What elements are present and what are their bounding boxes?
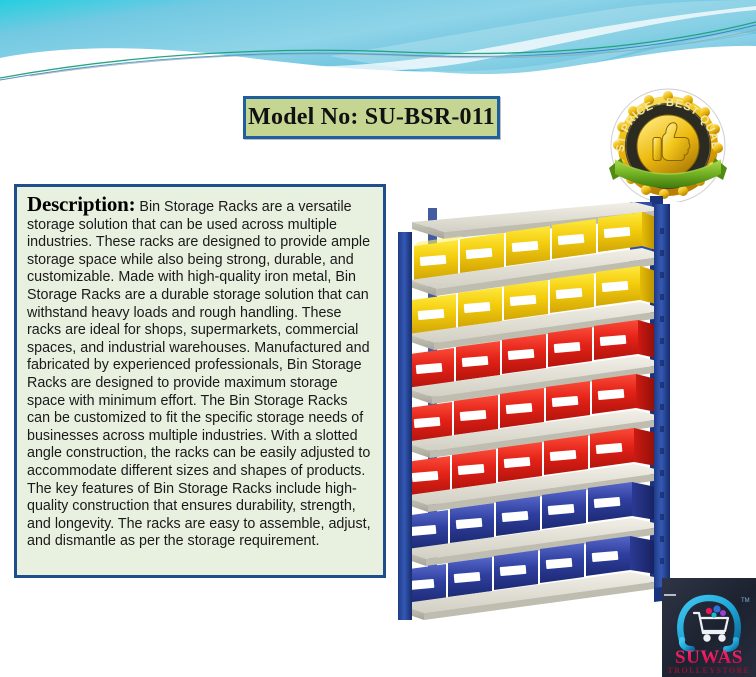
best-price-best-quality-seal: BEST PRICE - BEST QUALITY [603,84,733,202]
description-text: Bin Storage Racks are a versatile storag… [27,199,371,549]
decorative-wave-banner [0,0,756,96]
model-number-box: Model No: SU-BSR-011 [243,96,500,139]
description-paragraph: Description: Bin Storage Racks are a ver… [27,196,373,551]
model-number-text: Model No: SU-BSR-011 [248,104,495,131]
logo-brand-text: SUWAS [675,647,743,668]
logo-tagline-text: TROLLEYSTORE [668,666,751,675]
description-title: Description: [27,192,135,216]
description-box: Description: Bin Storage Racks are a ver… [14,184,386,578]
product-datasheet-page: Model No: SU-BSR-011 [0,0,756,677]
bin-storage-rack-photo [398,188,698,620]
trademark-mark: TM [741,598,750,604]
suwas-trolleystore-logo: TM SUWAS TROLLEYSTORE [662,578,756,677]
